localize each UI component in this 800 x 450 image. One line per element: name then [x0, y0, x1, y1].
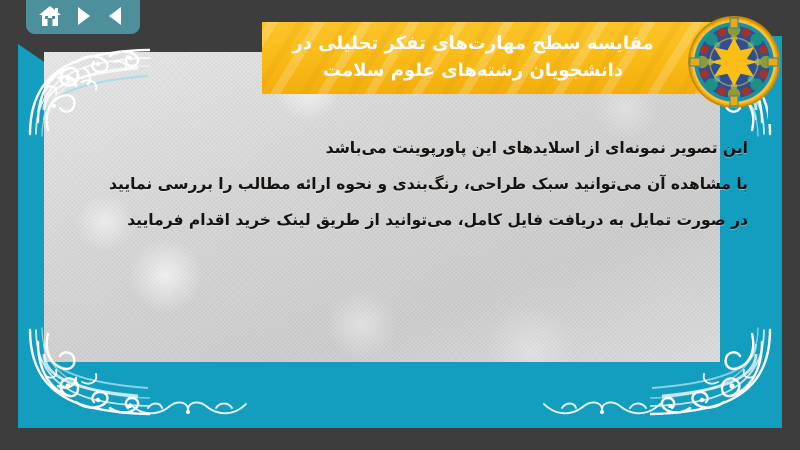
body-line-1: این تصویر نمونه‌ای از اسلایدهای این پاور… — [108, 130, 748, 166]
frame-right-sliver — [768, 82, 782, 124]
triangle-left-icon — [105, 5, 127, 27]
page-title-line-2: دانشجویان رشته‌های علوم سلامت — [323, 57, 623, 84]
triangle-right-icon — [72, 5, 94, 27]
body-line-3: در صورت تمایل به دریافت فایل کامل، می‌تو… — [108, 202, 748, 238]
home-icon — [38, 5, 62, 27]
slide-title-banner: مقایسه سطح مهارت‌های تفکر تحلیلی در دانش… — [262, 22, 752, 94]
slide-canvas: مقایسه سطح مهارت‌های تفکر تحلیلی در دانش… — [0, 0, 800, 450]
body-line-2: با مشاهده آن می‌توانید سبک طراحی، رنگ‌بن… — [108, 166, 748, 202]
slide-navigation-bar — [26, 0, 140, 34]
next-slide-button[interactable] — [69, 3, 97, 29]
previous-slide-button[interactable] — [102, 3, 130, 29]
slide-body-text: این تصویر نمونه‌ای از اسلایدهای این پاور… — [108, 130, 748, 238]
home-button[interactable] — [36, 3, 64, 29]
page-title-line-1: مقایسه سطح مهارت‌های تفکر تحلیلی در — [292, 30, 653, 57]
